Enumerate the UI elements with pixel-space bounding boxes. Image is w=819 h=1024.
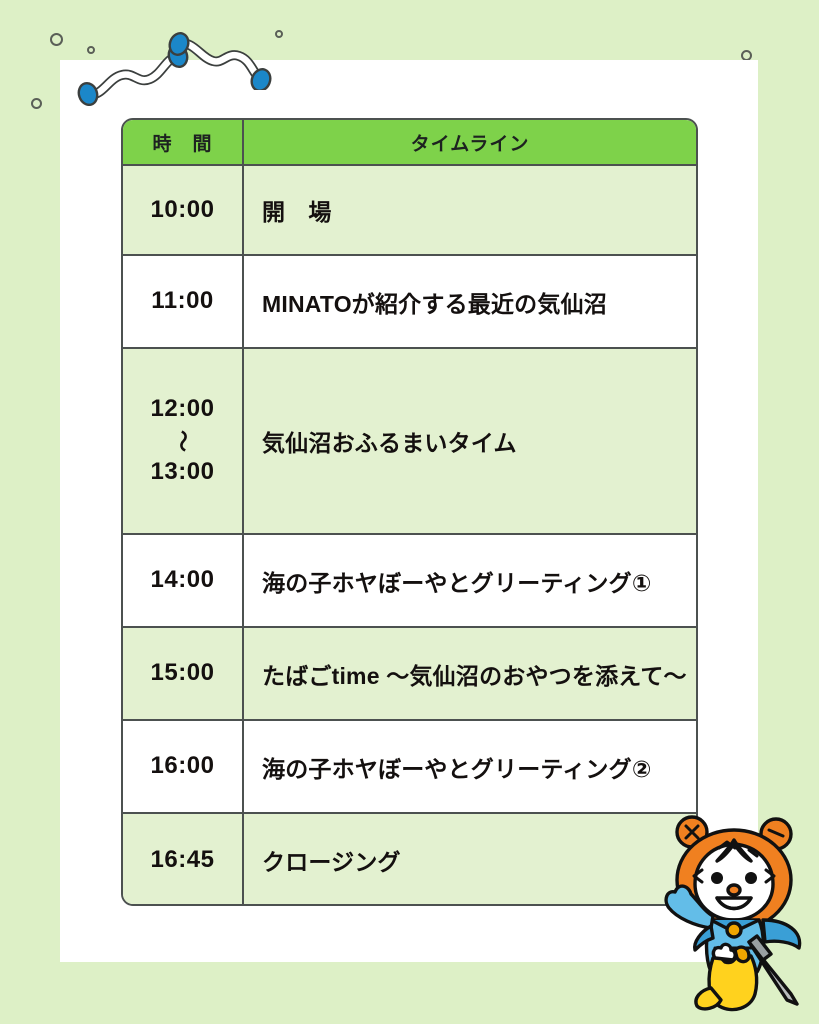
header-cell-timeline: タイムライン bbox=[244, 120, 696, 164]
hoya-bouya-mascot-icon bbox=[645, 808, 819, 1024]
dot-4 bbox=[275, 30, 283, 38]
cell-timeline: 海の子ホヤぼーやとグリーティング② bbox=[244, 721, 696, 812]
poster-stage: 時 間 タイムライン 10:00開 場11:00MINATOが紹介する最近の気仙… bbox=[0, 0, 819, 1024]
timeline-label: たばごtime 〜気仙沼のおやつを添えて〜 bbox=[262, 657, 687, 691]
time-start-label: 11:00 bbox=[151, 284, 214, 319]
schedule-table: 時 間 タイムライン 10:00開 場11:00MINATOが紹介する最近の気仙… bbox=[121, 118, 698, 906]
cell-time: 15:00 bbox=[123, 628, 244, 719]
time-start-label: 16:45 bbox=[151, 843, 215, 878]
cell-time: 16:00 bbox=[123, 721, 244, 812]
header-label-time: 時 間 bbox=[152, 129, 212, 156]
time-start-label: 12:00 bbox=[151, 392, 215, 427]
timeline-label: MINATOが紹介する最近の気仙沼 bbox=[262, 285, 607, 319]
table-row: 12:00〜13:00気仙沼おふるまいタイム bbox=[123, 349, 696, 535]
table-body: 10:00開 場11:00MINATOが紹介する最近の気仙沼12:00〜13:0… bbox=[123, 166, 696, 906]
cell-timeline: MINATOが紹介する最近の気仙沼 bbox=[244, 256, 696, 347]
cell-timeline: 海の子ホヤぼーやとグリーティング① bbox=[244, 535, 696, 626]
table-row: 14:00海の子ホヤぼーやとグリーティング① bbox=[123, 535, 696, 628]
dot-3 bbox=[31, 98, 42, 109]
table-row: 15:00たばごtime 〜気仙沼のおやつを添えて〜 bbox=[123, 628, 696, 721]
cell-timeline: 気仙沼おふるまいタイム bbox=[244, 349, 696, 533]
time-start-label: 14:00 bbox=[151, 563, 215, 598]
table-header-row: 時 間 タイムライン bbox=[123, 120, 696, 166]
cell-time: 16:45 bbox=[123, 814, 244, 906]
timeline-label: 気仙沼おふるまいタイム bbox=[262, 424, 517, 458]
cell-timeline: たばごtime 〜気仙沼のおやつを添えて〜 bbox=[244, 628, 696, 719]
timeline-label: 開 場 bbox=[262, 193, 332, 227]
timeline-label: クロージング bbox=[262, 843, 401, 877]
time-range-separator: 〜 bbox=[171, 430, 193, 452]
cell-time: 14:00 bbox=[123, 535, 244, 626]
time-start-label: 15:00 bbox=[151, 656, 215, 691]
cell-time: 12:00〜13:00 bbox=[123, 349, 244, 533]
table-row: 16:45クロージング bbox=[123, 814, 696, 906]
time-start-label: 16:00 bbox=[151, 749, 215, 784]
cell-time: 11:00 bbox=[123, 256, 244, 347]
dot-1 bbox=[50, 33, 63, 46]
cell-timeline: 開 場 bbox=[244, 166, 696, 254]
table-row: 11:00MINATOが紹介する最近の気仙沼 bbox=[123, 256, 696, 349]
cell-time: 10:00 bbox=[123, 166, 244, 254]
header-label-timeline: タイムライン bbox=[411, 129, 530, 156]
time-start-label: 10:00 bbox=[151, 193, 215, 228]
time-end-label: 13:00 bbox=[151, 455, 215, 490]
cell-timeline: クロージング bbox=[244, 814, 696, 906]
table-row: 10:00開 場 bbox=[123, 166, 696, 256]
table-row: 16:00海の子ホヤぼーやとグリーティング② bbox=[123, 721, 696, 814]
wave-ribbon-right-icon bbox=[165, 28, 275, 90]
header-cell-time: 時 間 bbox=[123, 120, 244, 164]
timeline-label: 海の子ホヤぼーやとグリーティング② bbox=[262, 750, 652, 784]
timeline-label: 海の子ホヤぼーやとグリーティング① bbox=[262, 564, 652, 598]
